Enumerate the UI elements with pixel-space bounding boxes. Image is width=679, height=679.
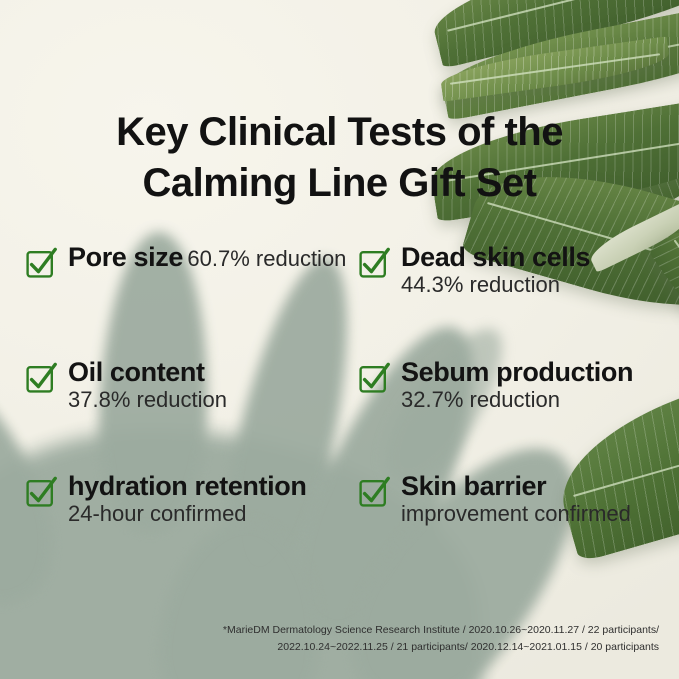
promo-graphic: Key Clinical Tests of the Calming Line G… [0, 0, 679, 679]
benefits-row-1: Pore size 60.7% reduction Dead skin cell… [26, 243, 667, 299]
benefit-subtitle: 37.8% reduction [68, 387, 227, 412]
benefit-item-oil-content: Oil content 37.8% reduction [26, 358, 359, 414]
benefit-title: Pore size [68, 242, 183, 272]
benefit-subtitle: improvement confirmed [401, 501, 631, 526]
page-title-line-1: Key Clinical Tests of the [116, 110, 563, 154]
footnote: *MarieDM Dermatology Science Research In… [0, 622, 665, 656]
benefit-subtitle: 24-hour confirmed [68, 501, 247, 526]
benefits-grid: Pore size 60.7% reduction Dead skin cell… [26, 243, 667, 528]
benefit-title: Dead skin cells [401, 242, 590, 272]
checkbox-checked-icon [359, 477, 389, 507]
benefits-row-2: Oil content 37.8% reduction Sebum produc… [26, 358, 667, 414]
footnote-line-2: 2022.10.24~2022.11.25 / 21 participants/… [0, 639, 659, 656]
benefit-item-skin-barrier: Skin barrier improvement confirmed [359, 472, 667, 528]
benefit-item-dead-skin-cells: Dead skin cells 44.3% reduction [359, 243, 667, 299]
benefit-item-sebum-production: Sebum production 32.7% reduction [359, 358, 667, 414]
benefit-title: Oil content [68, 357, 205, 387]
benefit-subtitle: 32.7% reduction [401, 387, 560, 412]
page-title: Key Clinical Tests of the Calming Line G… [0, 107, 679, 209]
benefit-item-pore-size: Pore size 60.7% reduction [26, 243, 359, 299]
benefit-title: hydration retention [68, 471, 306, 501]
footnote-line-1: *MarieDM Dermatology Science Research In… [0, 622, 659, 639]
checkbox-checked-icon [359, 363, 389, 393]
benefit-item-hydration-retention: hydration retention 24-hour confirmed [26, 472, 359, 528]
checkbox-checked-icon [26, 248, 56, 278]
benefit-subtitle: 44.3% reduction [401, 272, 560, 297]
benefit-subtitle: 60.7% reduction [187, 246, 346, 271]
page-title-line-2: Calming Line Gift Set [40, 158, 639, 209]
checkbox-checked-icon [26, 477, 56, 507]
benefits-row-3: hydration retention 24-hour confirmed Sk… [26, 472, 667, 528]
benefit-title: Sebum production [401, 357, 633, 387]
checkbox-checked-icon [359, 248, 389, 278]
benefit-title: Skin barrier [401, 471, 546, 501]
checkbox-checked-icon [26, 363, 56, 393]
